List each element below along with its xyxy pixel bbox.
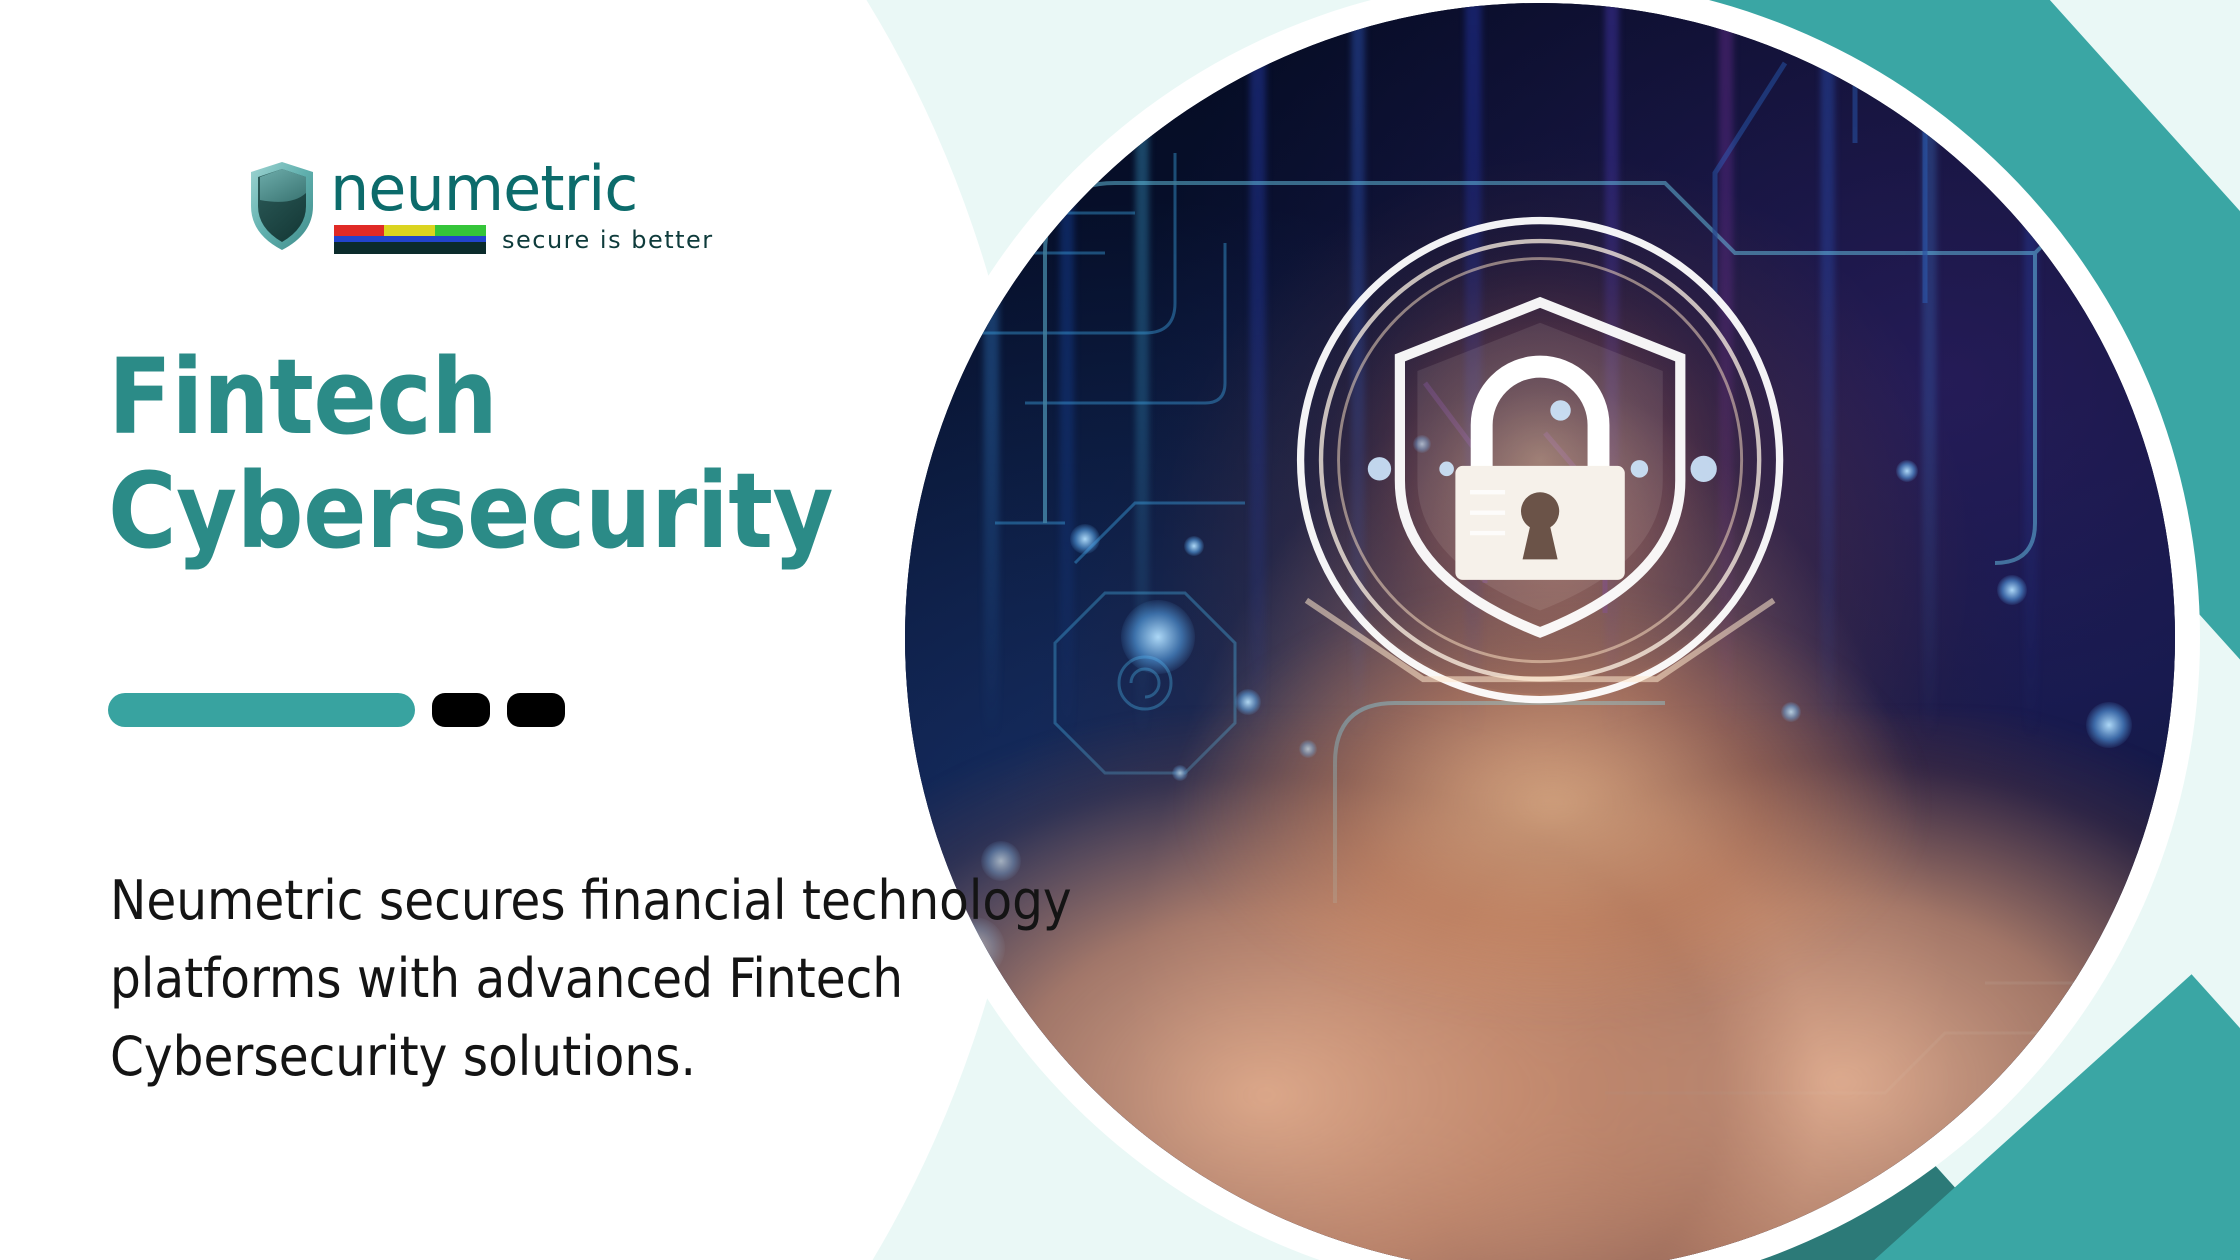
logo-tagline-row: secure is better	[334, 225, 714, 255]
bokeh-dot	[1997, 575, 2027, 605]
brand-logo[interactable]: neumetric secure is better	[248, 160, 714, 255]
divider-bar-black-1	[432, 693, 490, 727]
logo-text-block: neumetric secure is better	[330, 160, 714, 255]
color-bar-icon	[334, 225, 486, 255]
divider	[108, 693, 565, 727]
bokeh-dot	[1896, 460, 1918, 482]
slide-canvas: neumetric secure is better Fintech Cyber…	[0, 0, 2240, 1260]
logo-wordmark: neumetric	[330, 160, 714, 219]
divider-bar-black-2	[507, 693, 565, 727]
logo-tagline: secure is better	[502, 226, 714, 254]
shield-lock-hologram-icon	[1248, 168, 1832, 752]
body-paragraph: Neumetric secures financial technology p…	[110, 862, 1250, 1095]
bokeh-dot	[1070, 524, 1100, 554]
page-title-line-1: Fintech	[108, 340, 1008, 454]
divider-bar-long	[108, 693, 415, 727]
shield-icon	[248, 160, 316, 252]
page-title-line-2: Cybersecurity	[108, 454, 1008, 568]
page-title: Fintech Cybersecurity	[108, 340, 1008, 569]
